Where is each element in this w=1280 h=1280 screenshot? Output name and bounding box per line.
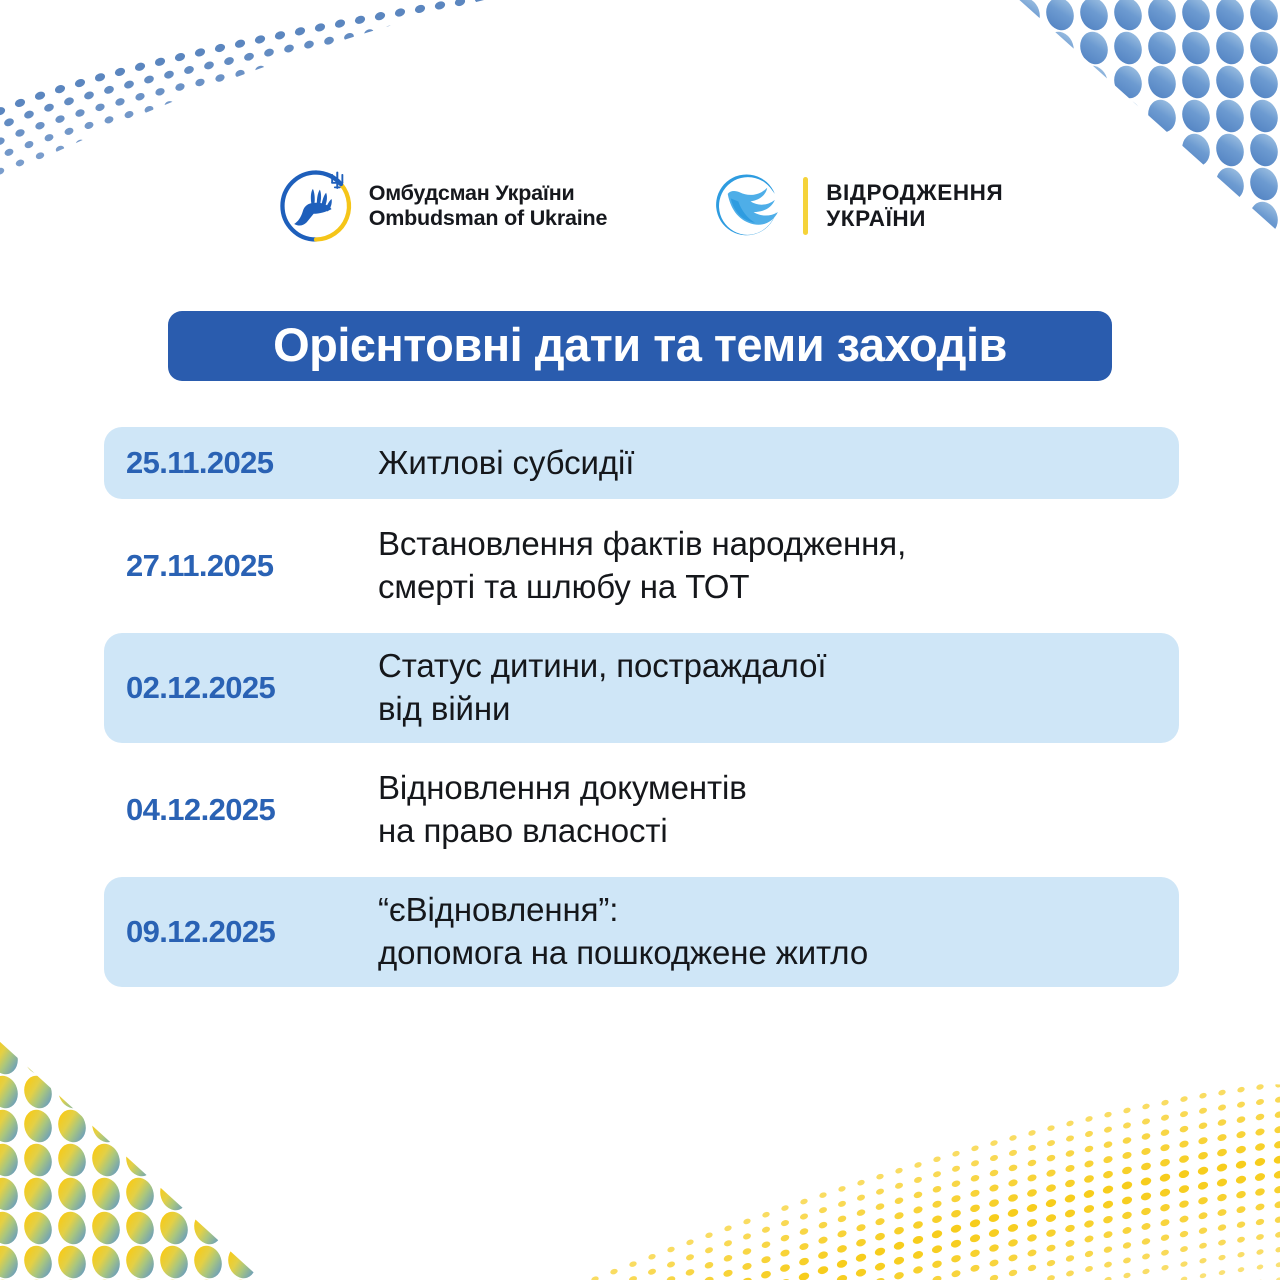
schedule-row: 25.11.2025Житлові субсидії	[104, 427, 1179, 499]
schedule-topic-line1: “єВідновлення”:	[378, 891, 618, 928]
logo-bar: Омбудсман України Ombudsman of Ukraine В…	[0, 160, 1280, 252]
logo-divider	[803, 177, 808, 235]
schedule-row: 04.12.2025Відновлення документівна право…	[104, 755, 1179, 865]
ombudsman-title-uk: Омбудсман України	[369, 181, 608, 206]
schedule-row: 09.12.2025“єВідновлення”:допомога на пош…	[104, 877, 1179, 987]
schedule-date: 27.11.2025	[126, 548, 378, 584]
schedule-topic-line2: від війни	[378, 688, 1179, 731]
page-title-banner: Орієнтовні дати та теми заходів	[168, 311, 1112, 381]
schedule-row: 27.11.2025Встановлення фактів народження…	[104, 511, 1179, 621]
schedule-topic-line1: Відновлення документів	[378, 769, 747, 806]
schedule-topic-line2: смерті та шлюбу на ТОТ	[378, 566, 1179, 609]
schedule-date: 04.12.2025	[126, 792, 378, 828]
schedule-topic: Житлові субсидії	[378, 442, 1179, 485]
schedule-topic: Встановлення фактів народження,смерті та…	[378, 523, 1179, 609]
phoenix-circle-icon	[711, 168, 787, 244]
yellow-blue-ellipse-grid-decoration	[0, 980, 350, 1280]
page-title: Орієнтовні дати та теми заходів	[273, 321, 1007, 368]
yellow-dot-wave-decoration	[520, 1040, 1280, 1280]
schedule-list: 25.11.2025Житлові субсидії27.11.2025Вста…	[104, 427, 1179, 999]
schedule-topic: Статус дитини, постраждалоївід війни	[378, 645, 1179, 731]
schedule-date: 25.11.2025	[126, 445, 378, 481]
vidrodzhennia-line2: УКРАЇНИ	[826, 206, 1003, 232]
schedule-date: 02.12.2025	[126, 670, 378, 706]
schedule-topic: Відновлення документівна право власності	[378, 767, 1179, 853]
schedule-topic: “єВідновлення”:допомога на пошкоджене жи…	[378, 889, 1179, 975]
schedule-row: 02.12.2025Статус дитини, постраждалоївід…	[104, 633, 1179, 743]
ombudsman-logo: Омбудсман України Ombudsman of Ukraine	[277, 167, 608, 245]
schedule-topic-line1: Житлові субсидії	[378, 444, 634, 481]
schedule-date: 09.12.2025	[126, 914, 378, 950]
poster-canvas: Омбудсман України Ombudsman of Ukraine В…	[0, 0, 1280, 1280]
schedule-topic-line1: Встановлення фактів народження,	[378, 525, 906, 562]
ombudsman-title-en: Ombudsman of Ukraine	[369, 206, 608, 231]
schedule-topic-line2: на право власності	[378, 810, 1179, 853]
schedule-topic-line2: допомога на пошкоджене житло	[378, 932, 1179, 975]
vidrodzhennia-logo: ВІДРОДЖЕННЯ УКРАЇНИ	[711, 168, 1003, 244]
schedule-topic-line1: Статус дитини, постраждалої	[378, 647, 826, 684]
ombudsman-dove-circle-icon	[277, 167, 355, 245]
vidrodzhennia-line1: ВІДРОДЖЕННЯ	[826, 180, 1003, 206]
